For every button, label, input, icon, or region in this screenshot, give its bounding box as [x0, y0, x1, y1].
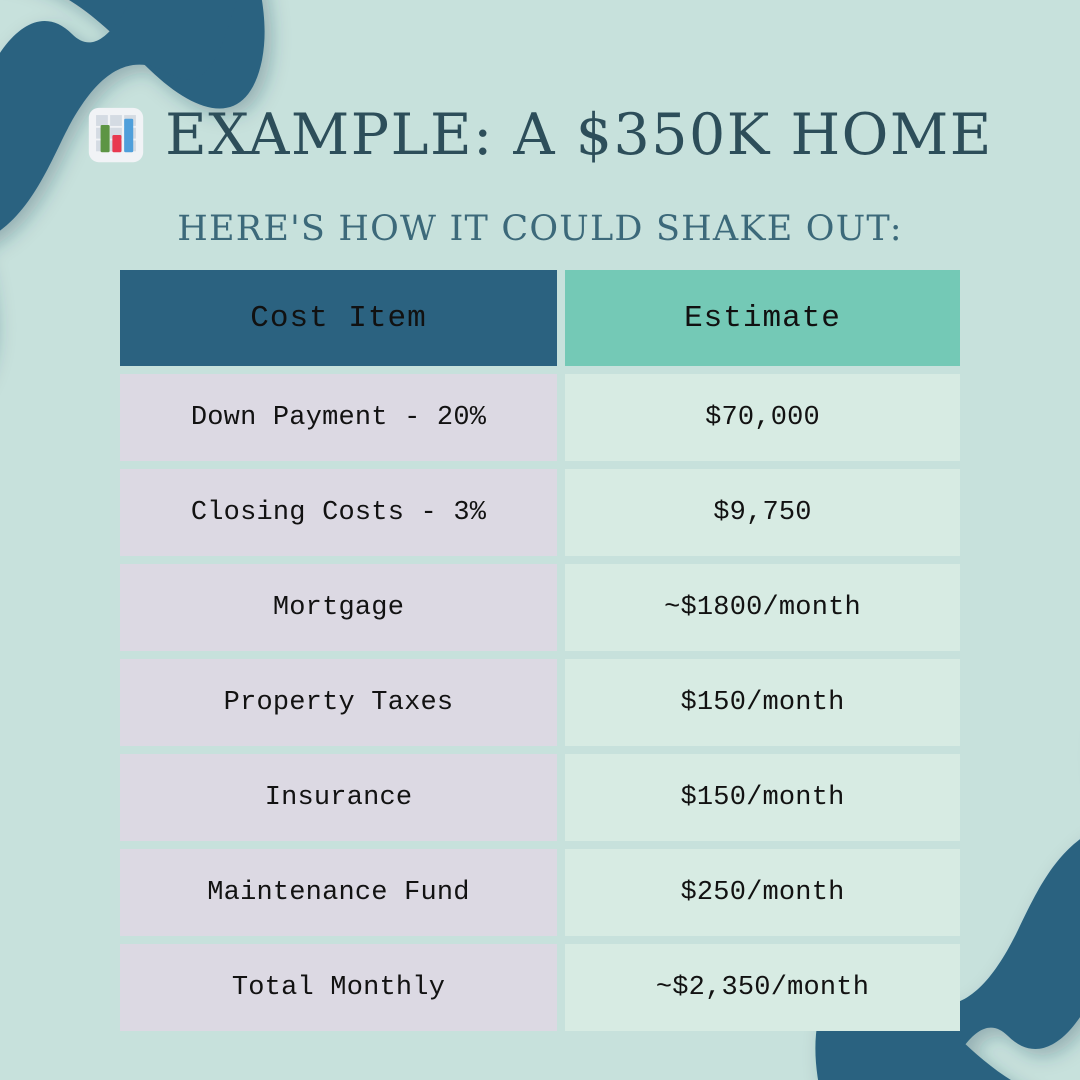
- cell-cost-item: Property Taxes: [120, 659, 557, 746]
- cell-estimate: $250/month: [565, 849, 960, 936]
- header-block: EXAMPLE: A $350K HOME HERE'S HOW IT COUL…: [0, 92, 1080, 247]
- table-row: Down Payment - 20% $70,000: [120, 374, 960, 461]
- table-row: Closing Costs - 3% $9,750: [120, 469, 960, 556]
- cell-cost-item: Closing Costs - 3%: [120, 469, 557, 556]
- table-row: Maintenance Fund $250/month: [120, 849, 960, 936]
- table-header-row: Cost Item Estimate: [120, 270, 960, 366]
- table-row: Mortgage ~$1800/month: [120, 564, 960, 651]
- cell-estimate: $150/month: [565, 659, 960, 746]
- cell-estimate: $9,750: [565, 469, 960, 556]
- page-title: EXAMPLE: A $350K HOME: [165, 107, 993, 164]
- table-row: Insurance $150/month: [120, 754, 960, 841]
- cell-cost-item: Down Payment - 20%: [120, 374, 557, 461]
- table-row-total: Total Monthly ~$2,350/month: [120, 944, 960, 1031]
- cell-cost-item: Maintenance Fund: [120, 849, 557, 936]
- bar-chart-icon: [87, 106, 145, 164]
- page-subtitle: HERE'S HOW IT COULD SHAKE OUT:: [0, 212, 1080, 247]
- title-row: EXAMPLE: A $350K HOME: [0, 92, 1080, 178]
- table-row: Property Taxes $150/month: [120, 659, 960, 746]
- column-header-cost-item: Cost Item: [120, 270, 557, 366]
- cell-estimate: $150/month: [565, 754, 960, 841]
- cell-cost-item: Insurance: [120, 754, 557, 841]
- cell-estimate: ~$2,350/month: [565, 944, 960, 1031]
- cell-estimate: ~$1800/month: [565, 564, 960, 651]
- cell-estimate: $70,000: [565, 374, 960, 461]
- cost-breakdown-table: Cost Item Estimate Down Payment - 20% $7…: [120, 270, 960, 1031]
- column-header-estimate: Estimate: [565, 270, 960, 366]
- cell-cost-item: Total Monthly: [120, 944, 557, 1031]
- cell-cost-item: Mortgage: [120, 564, 557, 651]
- infographic-canvas: EXAMPLE: A $350K HOME HERE'S HOW IT COUL…: [0, 0, 1080, 1080]
